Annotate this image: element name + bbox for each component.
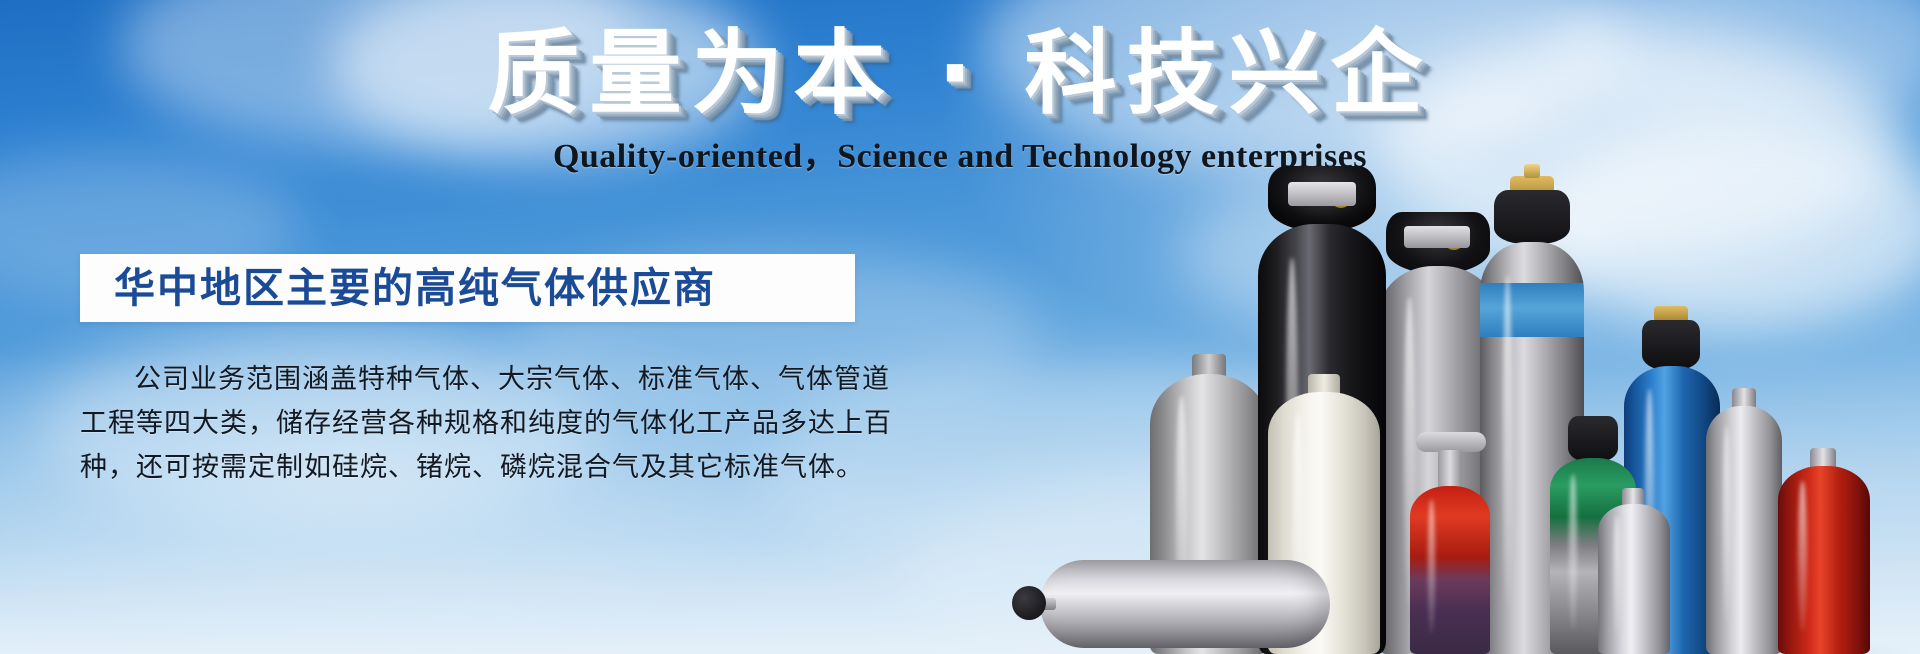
silver-slim-cylinder — [1706, 406, 1782, 654]
cylinder-cap — [1642, 320, 1700, 370]
cylinder-body — [1598, 504, 1670, 654]
description-line: 工程等四大类，储存经营各种规格和纯度的气体化工产品多达上百 — [80, 402, 870, 446]
cylinder-cap — [1494, 190, 1570, 244]
dark-red-cylinder — [1778, 466, 1870, 654]
description-line: 公司业务范围涵盖特种气体、大宗气体、标准气体、气体管道 — [80, 358, 870, 402]
cylinder-valve — [1416, 432, 1486, 452]
promo-banner: 质量为本 · 科技兴企 Quality-oriented，Science and… — [0, 0, 1920, 654]
cylinder-body — [1410, 486, 1490, 654]
banner-description: 公司业务范围涵盖特种气体、大宗气体、标准气体、气体管道 工程等四大类，储存经营各… — [80, 358, 870, 490]
tagline-box: 华中地区主要的高纯气体供应商 — [80, 254, 855, 322]
gas-cylinder-group-image — [1150, 0, 1920, 654]
cylinder-neck — [1438, 450, 1462, 490]
silver-small-cylinder — [1598, 504, 1670, 654]
cylinder-body — [1778, 466, 1870, 654]
cylinder-cap — [1268, 166, 1376, 232]
cylinder-valve — [1444, 230, 1464, 250]
cylinder-cap — [1568, 416, 1618, 462]
cylinder-valve — [1330, 186, 1352, 208]
tagline-text: 华中地区主要的高纯气体供应商 — [80, 254, 716, 322]
description-line: 种，还可按需定制如硅烷、锗烷、磷烷混合气及其它标准气体。 — [80, 446, 870, 490]
red-small-cylinder — [1410, 486, 1490, 654]
cylinder-body — [1706, 406, 1782, 654]
tank-valve-knob — [1012, 586, 1046, 620]
horizontal-silver-tank — [1040, 560, 1330, 648]
cylinder-cap — [1386, 212, 1490, 274]
